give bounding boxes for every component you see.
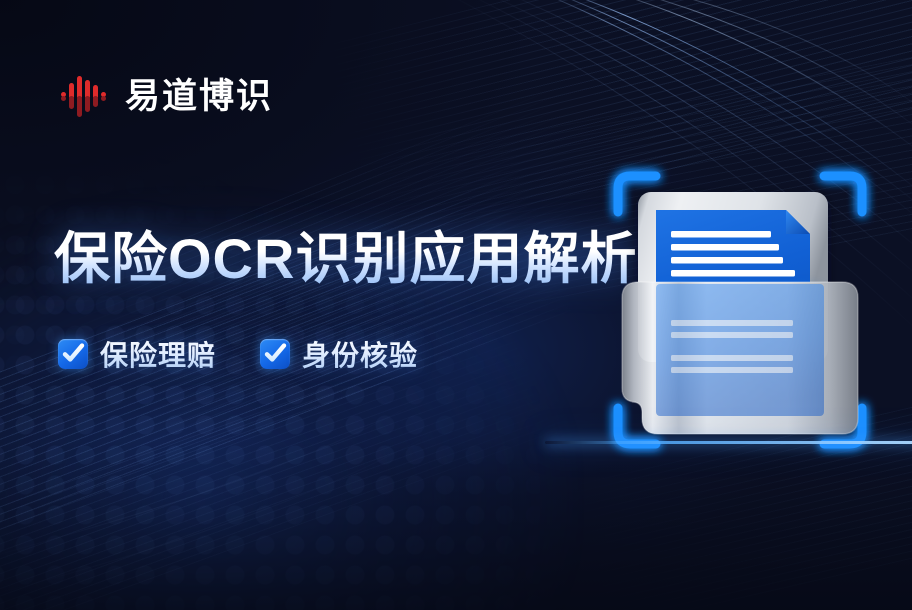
page-title: 保险OCR识别应用解析 [54,228,637,290]
folder-sheen [622,282,858,434]
feature-label: 保险理赔 [100,334,216,374]
ocr-promo-banner: 易道博识 保险OCR识别应用解析 保险理赔 [0,0,912,610]
brand-logo[interactable]: 易道博识 [60,70,273,122]
scan-line [545,441,912,444]
feature-list: 保险理赔 身份核验 [58,334,418,374]
feature-label: 身份核验 [302,334,418,374]
waveform-bars-logo-icon [60,70,108,122]
document-scan-illustration [600,150,880,470]
check-icon [58,339,88,369]
check-icon [260,339,290,369]
feature-item-identity-verification[interactable]: 身份核验 [260,334,418,374]
feature-item-insurance-claim[interactable]: 保险理赔 [58,334,216,374]
brand-name: 易道博识 [125,79,273,114]
